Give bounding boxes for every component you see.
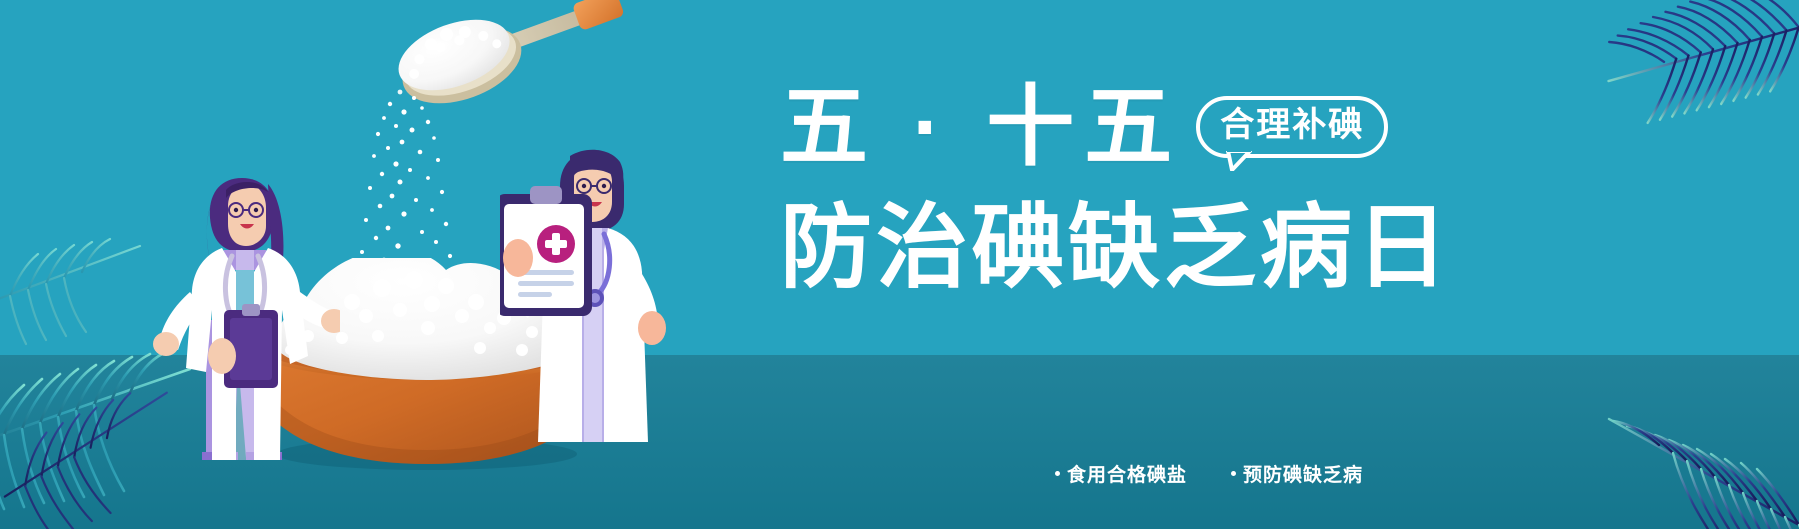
bullet-dot-icon (1055, 471, 1060, 476)
slogan-bullet-strip: 食用合格碘盐 预防碘缺乏病 (1055, 460, 1363, 487)
headline-block: 五 · 十五 合理补碘 防治碘缺乏病日 (780, 78, 1440, 298)
headline-title: 防治碘缺乏病日 (780, 198, 1440, 298)
bullet-label: 食用合格碘盐 (1067, 460, 1187, 487)
headline-line-1-row: 五 · 十五 合理补碘 (780, 78, 1440, 176)
bullet-item: 食用合格碘盐 (1055, 460, 1187, 487)
wooden-spoon-icon (352, 0, 632, 114)
male-doctor-illustration (500, 142, 685, 442)
bullet-dot-icon (1231, 471, 1236, 476)
slogan-badge-label: 合理补碘 (1220, 106, 1364, 144)
speech-bubble-tail-icon (1226, 151, 1252, 171)
bullet-item: 预防碘缺乏病 (1231, 460, 1363, 487)
headline-date: 五 · 十五 (780, 78, 1182, 176)
bullet-label: 预防碘缺乏病 (1243, 460, 1363, 487)
iodine-awareness-banner: 五 · 十五 合理补碘 防治碘缺乏病日 食用合格碘盐 预防碘缺乏病 (0, 0, 1799, 529)
female-doctor-illustration (150, 160, 340, 460)
slogan-badge: 合理补碘 (1196, 96, 1388, 157)
